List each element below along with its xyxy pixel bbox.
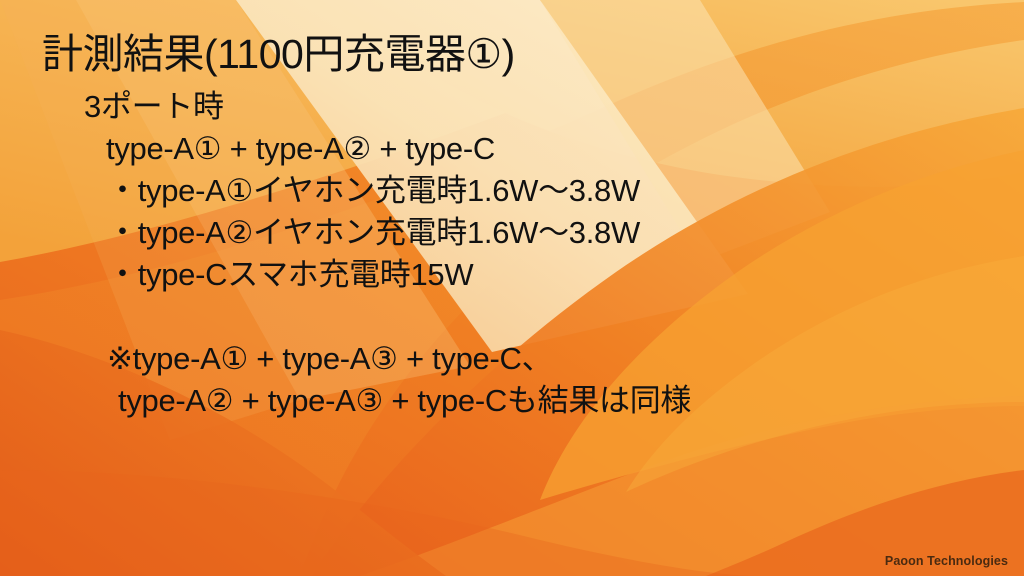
slide-content-layer: 計測結果(1100円充電器①) 3ポート時 type-A① + type-A② … [0, 0, 1024, 576]
body-line-note-second: type-A② + type-A③ + type-Cも結果は同様 [0, 380, 1024, 422]
slide-body: 3ポート時 type-A① + type-A② + type-C ・type-A… [0, 86, 1024, 422]
body-line-note-first: ※type-A① + type-A③ + type-C、 [0, 338, 1024, 380]
body-line-spacer [0, 296, 1024, 338]
slide-footer-branding: Paoon Technologies [885, 554, 1008, 568]
body-line-port-combo: type-A① + type-A② + type-C [0, 128, 1024, 170]
body-line-port-count: 3ポート時 [0, 86, 1024, 128]
presentation-slide: 計測結果(1100円充電器①) 3ポート時 type-A① + type-A② … [0, 0, 1024, 576]
page-title: 計測結果(1100円充電器①) [42, 32, 515, 77]
body-line-measurement-a2: ・type-A②イヤホン充電時1.6W～3.8W [0, 212, 1024, 254]
body-line-measurement-c: ・type-Cスマホ充電時15W [0, 254, 1024, 296]
body-line-measurement-a1: ・type-A①イヤホン充電時1.6W～3.8W [0, 170, 1024, 212]
